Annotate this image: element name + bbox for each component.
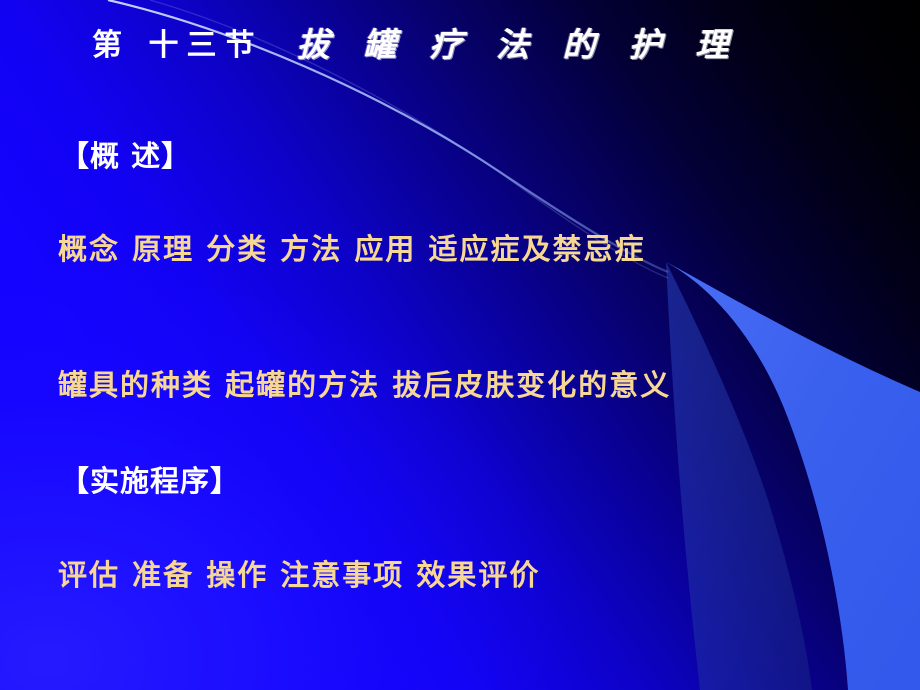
- overview-item-2: 罐具的种类 起罐的方法 拔后皮肤变化的意义: [58, 362, 671, 404]
- overview-item-1: 概念 原理 分类 方法 应用 适应症及禁忌症: [58, 226, 645, 268]
- procedure-item-1: 评估 准备 操作 注意事项 效果评价: [58, 552, 540, 594]
- section-heading-procedure: 【实施程序】: [60, 458, 240, 500]
- title-section-label: 第 十三节: [92, 20, 262, 64]
- title-topic: 拔 罐 疗 法 的 护 理: [296, 18, 739, 66]
- slide-content: 第 十三节拔 罐 疗 法 的 护 理 【概 述】 概念 原理 分类 方法 应用 …: [0, 0, 920, 690]
- presentation-slide: 第 十三节拔 罐 疗 法 的 护 理 【概 述】 概念 原理 分类 方法 应用 …: [0, 0, 920, 690]
- slide-title: 第 十三节拔 罐 疗 法 的 护 理: [0, 18, 920, 66]
- section-heading-overview: 【概 述】: [60, 133, 191, 175]
